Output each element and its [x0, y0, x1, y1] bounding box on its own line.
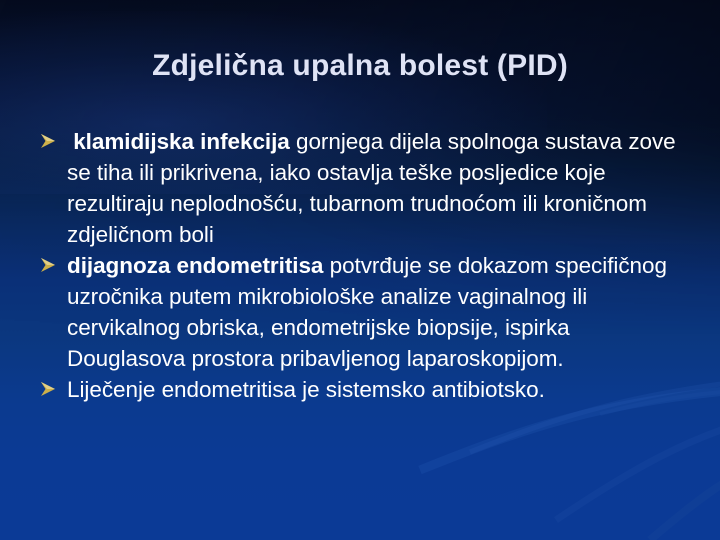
- bullet-item: dijagnoza endometritisa potvrđuje se dok…: [36, 250, 688, 374]
- bullet-lead-term: dijagnoza endometritisa: [67, 253, 323, 278]
- bullet-lead-term: klamidijska infekcija: [73, 129, 290, 154]
- bullet-item: klamidijska infekcija gornjega dijela sp…: [36, 126, 688, 250]
- bullet-text: dijagnoza endometritisa potvrđuje se dok…: [67, 250, 688, 374]
- bullet-body-text: Liječenje endometritisa je sistemsko ant…: [67, 377, 545, 402]
- arrowhead-bullet-icon: [38, 378, 58, 400]
- slide-body-content: klamidijska infekcija gornjega dijela sp…: [36, 126, 688, 405]
- bullet-text: Liječenje endometritisa je sistemsko ant…: [67, 374, 688, 405]
- presentation-slide: Zdjelična upalna bolest (PID) klamidijsk…: [0, 0, 720, 540]
- bullet-item: Liječenje endometritisa je sistemsko ant…: [36, 374, 688, 405]
- bullet-text: klamidijska infekcija gornjega dijela sp…: [67, 126, 688, 250]
- slide-title: Zdjelična upalna bolest (PID): [0, 48, 720, 84]
- arrowhead-bullet-icon: [38, 254, 58, 276]
- arrowhead-bullet-icon: [38, 130, 58, 152]
